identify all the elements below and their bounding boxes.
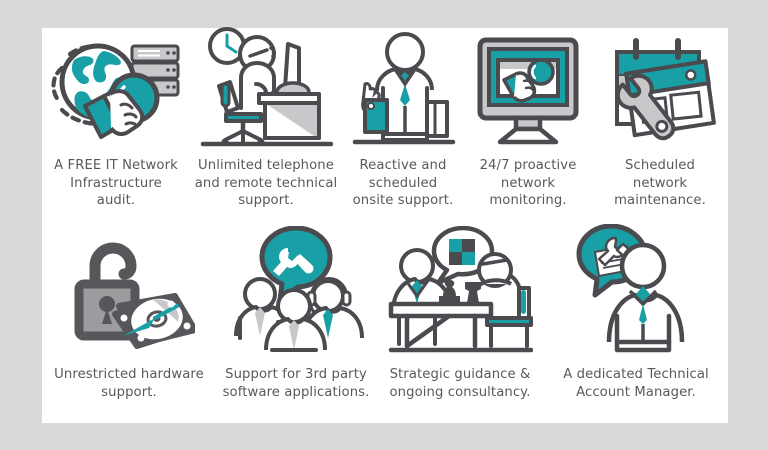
feature-caption: Unrestricted hardware support. [54,366,204,401]
feature-cell-3rd-party-software: Support for 3rd party software applicati… [216,224,376,423]
consultancy-chess-meeting-icon [380,224,540,356]
feature-cell-telephone-support: Unlimited telephone and remote technical… [190,28,342,224]
feature-cell-hardware-support: Unrestricted hardware support. [42,224,216,423]
feature-cell-account-manager: A dedicated Technical Account Manager. [544,224,728,423]
feature-cell-scheduled-maintenance: Scheduled network maintenance. [592,28,728,224]
feature-cell-onsite-support: Reactive and scheduled onsite support. [342,28,464,224]
open-padlock-harddrive-icon [46,224,212,356]
account-manager-bubble-icon [548,224,724,356]
feature-row-top: A FREE IT Network Infrastructure audit. [42,28,728,224]
feature-caption: 24/7 proactive network monitoring. [480,157,577,210]
feature-caption: Support for 3rd party software applicati… [223,366,370,401]
feature-caption: Reactive and scheduled onsite support. [353,157,454,210]
feature-caption: Unlimited telephone and remote technical… [195,157,338,210]
feature-cell-network-monitoring: 24/7 proactive network monitoring. [464,28,592,224]
feature-caption: A FREE IT Network Infrastructure audit. [54,157,178,210]
feature-cell-strategic-guidance: Strategic guidance & ongoing consultancy… [376,224,544,423]
globe-magnifier-server-icon [46,28,186,148]
helpdesk-agent-desk-clock-icon [194,28,338,148]
feature-caption: Scheduled network maintenance. [614,157,706,210]
feature-caption: A dedicated Technical Account Manager. [563,366,709,401]
feature-row-bottom: Unrestricted hardware support. [42,224,728,423]
calendar-wrench-icon [596,28,724,148]
support-team-wrench-bubble-icon [220,224,372,356]
feature-caption: Strategic guidance & ongoing consultancy… [390,366,531,401]
feature-cell-network-audit: A FREE IT Network Infrastructure audit. [42,28,190,224]
monitor-magnifier-icon [468,28,588,148]
engineer-toolbag-icon [346,28,460,148]
content-panel: A FREE IT Network Infrastructure audit. [42,28,728,423]
